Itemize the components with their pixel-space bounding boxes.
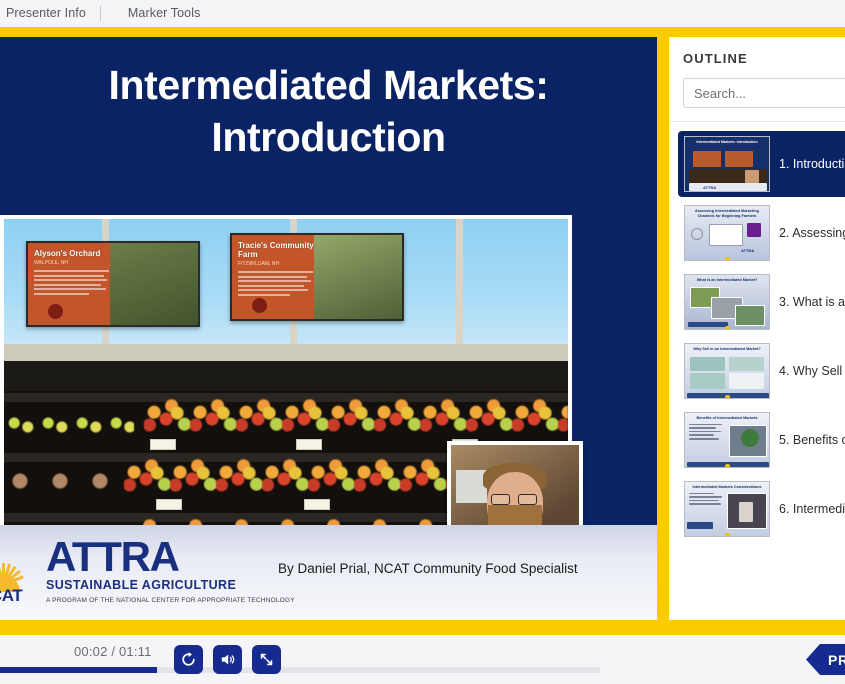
slide-title: Intermediated Markets: Introduction <box>0 59 657 163</box>
slide-stage[interactable]: Intermediated Markets: Introduction Alys… <box>0 37 657 620</box>
time-display: 00:02 / 01:11 <box>74 644 152 659</box>
expand-icon <box>258 651 275 668</box>
slide-title-line1: Intermediated Markets: <box>108 62 548 108</box>
tab-marker-tools[interactable]: Marker Tools <box>101 0 215 27</box>
frame-accent-middle <box>657 27 669 635</box>
slide-thumbnail: What is an Intermediated Market? <box>684 274 770 330</box>
outline-panel: OUTLINE Intermediated Markets: Introduct… <box>669 37 845 620</box>
outline-item-4[interactable]: Why Sell in an Intermediated Market? 4. … <box>678 338 845 404</box>
attra-tagline: SUSTAINABLE AGRICULTURE <box>46 578 295 592</box>
outline-item-label: 1. Introduction <box>779 157 845 172</box>
billboard-banner: Tracie's Community Farm FITZWILLIAM, NH <box>230 233 404 321</box>
attra-logo: NCAT ATTRA SUSTAINABLE AGRICULTURE A PRO… <box>0 537 295 604</box>
outline-item-label: 6. Intermediated Markets Considerations <box>779 502 845 517</box>
outline-item-3[interactable]: What is an Intermediated Market? 3. What… <box>678 269 845 335</box>
outline-item-label: 5. Benefits of Intermediated Markets <box>779 433 845 448</box>
frame-accent-bottom <box>0 620 845 635</box>
speaker-icon <box>219 651 236 668</box>
banner-title: Alyson's Orchard <box>34 249 112 258</box>
outline-item-2[interactable]: Assessing Intermediated Marketing Channe… <box>678 200 845 266</box>
slide-thumbnail: Assessing Intermediated Marketing Channe… <box>684 205 770 261</box>
attra-text-block: ATTRA SUSTAINABLE AGRICULTURE A PROGRAM … <box>46 537 295 604</box>
thumbnail-title: Why Sell in an Intermediated Market? <box>685 344 769 352</box>
banner-photo <box>314 235 402 319</box>
banner-text: Tracie's Community Farm FITZWILLIAM, NH <box>238 241 316 298</box>
thumbnail-title: Intermediated Markets: Introduction <box>685 137 769 144</box>
banner-subtitle: FITZWILLIAM, NH <box>238 261 316 267</box>
outline-item-5[interactable]: Benefits of Intermediated Markets 5. Ben… <box>678 407 845 473</box>
storefront-beam <box>4 344 568 361</box>
banner-title: Tracie's Community Farm <box>238 241 316 259</box>
outline-item-label: 4. Why Sell in an Intermediated Market? <box>779 364 845 379</box>
top-tab-bar: Presenter Info Marker Tools <box>0 0 845 27</box>
apple-logo-icon <box>252 298 267 313</box>
billboard-banner: Alyson's Orchard WALPOLE, NH <box>26 241 200 327</box>
slide-thumbnail: Intermediated Markets Considerations <box>684 481 770 537</box>
outline-item-label: 2. Assessing Intermediated Marketing Cha… <box>779 226 845 241</box>
thumbnail-title: Intermediated Markets Considerations <box>685 482 769 490</box>
fullscreen-button[interactable] <box>252 645 281 674</box>
apple-logo-icon <box>48 304 63 319</box>
slide-thumbnail: Benefits of Intermediated Markets <box>684 412 770 468</box>
outline-item-label: 3. What is an Intermediated Market? <box>779 295 845 310</box>
previous-button[interactable]: PREVIOUS <box>806 644 845 675</box>
banner-body <box>34 270 112 295</box>
volume-button[interactable] <box>213 645 242 674</box>
storefront-shadow <box>4 361 568 391</box>
attra-wordmark: ATTRA <box>46 537 295 577</box>
window-mullion <box>456 219 463 354</box>
outline-list: Intermediated Markets: Introduction ATTR… <box>669 122 845 542</box>
slide-footer: NCAT ATTRA SUSTAINABLE AGRICULTURE A PRO… <box>0 525 657 620</box>
slide-thumbnail: Why Sell in an Intermediated Market? <box>684 343 770 399</box>
presentation-player: Presenter Info Marker Tools Intermediate… <box>0 0 845 684</box>
tab-presenter-info[interactable]: Presenter Info <box>0 0 100 27</box>
search-input[interactable] <box>683 78 845 108</box>
replay-button[interactable] <box>174 645 203 674</box>
banner-text: Alyson's Orchard WALPOLE, NH <box>34 249 112 297</box>
banner-subtitle: WALPOLE, NH <box>34 260 112 266</box>
slide-title-line2: Introduction <box>0 111 657 163</box>
slide-thumbnail: Intermediated Markets: Introduction ATTR… <box>684 136 770 192</box>
progress-bar[interactable] <box>0 667 600 673</box>
replay-icon <box>180 651 197 668</box>
frame-accent-top <box>0 27 845 37</box>
outline-item-6[interactable]: Intermediated Markets Considerations 6. … <box>678 476 845 542</box>
sunburst-icon: NCAT <box>0 544 36 592</box>
glasses-icon <box>491 494 510 505</box>
attra-footnote: A PROGRAM OF THE NATIONAL CENTER FOR APP… <box>46 597 295 604</box>
thumbnail-title: What is an Intermediated Market? <box>685 275 769 283</box>
outline-heading: OUTLINE <box>669 37 845 66</box>
banner-photo <box>110 243 198 325</box>
player-bar: 00:02 / 01:11 <box>0 635 845 684</box>
glasses-icon <box>518 494 537 505</box>
progress-fill <box>0 667 157 673</box>
banner-body <box>238 271 316 296</box>
thumbnail-title: Assessing Intermediated Marketing Channe… <box>685 206 769 218</box>
thumbnail-title: Benefits of Intermediated Markets <box>685 413 769 421</box>
slide-byline: By Daniel Prial, NCAT Community Food Spe… <box>278 561 578 576</box>
outline-item-1[interactable]: Intermediated Markets: Introduction ATTR… <box>678 131 845 197</box>
player-controls <box>174 645 281 674</box>
ncat-wordmark: NCAT <box>0 586 22 606</box>
